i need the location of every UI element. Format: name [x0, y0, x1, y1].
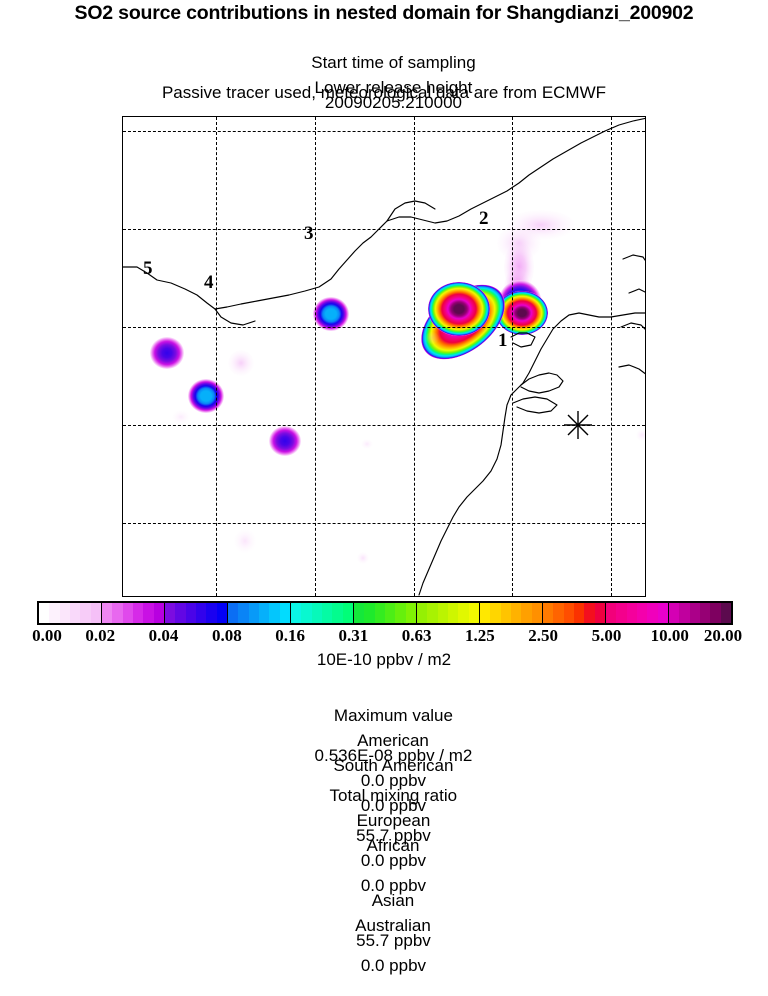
- colorbar-step: [291, 603, 301, 623]
- gridline-horizontal: [123, 523, 645, 524]
- coastline-and-borders: [123, 117, 646, 597]
- colorbar-step: [39, 603, 49, 623]
- gridline-horizontal: [123, 327, 645, 328]
- colorbar-step: [332, 603, 342, 623]
- colorbar-tick: 0.16: [275, 626, 305, 646]
- colorbar-tick: 0.31: [338, 626, 368, 646]
- colorbar-step: [584, 603, 594, 623]
- colorbar-segment: [228, 603, 291, 623]
- colorbar-step: [606, 603, 616, 623]
- region-south-american-value: 0.0 ppbv: [361, 796, 426, 815]
- colorbar-step: [511, 603, 521, 623]
- colorbar-step: [112, 603, 122, 623]
- colorbar-step: [395, 603, 405, 623]
- colorbar-step: [196, 603, 206, 623]
- colorbar-gradient: [37, 601, 733, 625]
- region-australian-value: 0.0 ppbv: [361, 956, 426, 975]
- colorbar-segment: [165, 603, 228, 623]
- colorbar-step: [269, 603, 279, 623]
- gridline-vertical: [512, 117, 513, 596]
- colorbar[interactable]: [37, 601, 733, 625]
- colorbar-step: [574, 603, 584, 623]
- colorbar-segment: [291, 603, 354, 623]
- colorbar-step: [238, 603, 248, 623]
- page-title: SO2 source contributions in nested domai…: [0, 2, 768, 25]
- colorbar-segment: [102, 603, 165, 623]
- colorbar-step: [280, 603, 290, 623]
- colorbar-segment: [417, 603, 480, 623]
- colorbar-step: [80, 603, 90, 623]
- colorbar-step: [154, 603, 164, 623]
- map-label-5: 5: [143, 259, 153, 278]
- colorbar-segment: [480, 603, 543, 623]
- colorbar-step: [616, 603, 626, 623]
- map-label-4: 4: [204, 273, 214, 292]
- map-label-1: 1: [498, 331, 508, 350]
- region-australian-label: Australian: [355, 916, 431, 935]
- colorbar-tick-labels: 0.000.020.040.080.160.310.631.252.505.00…: [0, 626, 768, 646]
- colorbar-step: [102, 603, 112, 623]
- colorbar-tick: 0.63: [402, 626, 432, 646]
- footer-region-row: South American 0.0 ppbv African 0.0 ppbv…: [0, 736, 768, 996]
- colorbar-step: [312, 603, 322, 623]
- colorbar-step: [543, 603, 553, 623]
- colorbar-tick: 1.25: [465, 626, 495, 646]
- region-african-value: 0.0 ppbv: [361, 876, 426, 895]
- colorbar-step: [249, 603, 259, 623]
- colorbar-step: [354, 603, 364, 623]
- colorbar-step: [228, 603, 238, 623]
- colorbar-step: [658, 603, 668, 623]
- colorbar-tick: 0.04: [149, 626, 179, 646]
- colorbar-step: [60, 603, 70, 623]
- colorbar-step: [710, 603, 720, 623]
- colorbar-segment: [606, 603, 669, 623]
- colorbar-step: [364, 603, 374, 623]
- colorbar-step: [490, 603, 500, 623]
- gridline-horizontal: [123, 229, 645, 230]
- colorbar-step: [564, 603, 574, 623]
- colorbar-segment: [669, 603, 731, 623]
- colorbar-step: [521, 603, 531, 623]
- colorbar-step: [553, 603, 563, 623]
- colorbar-step: [143, 603, 153, 623]
- colorbar-step: [679, 603, 689, 623]
- colorbar-segment: [354, 603, 417, 623]
- colorbar-step: [343, 603, 353, 623]
- colorbar-tick: 5.00: [592, 626, 622, 646]
- release-site-star-icon: [578, 425, 579, 426]
- region-south-american-label: South American: [333, 756, 453, 775]
- colorbar-step: [217, 603, 227, 623]
- colorbar-step: [532, 603, 542, 623]
- colorbar-step: [49, 603, 59, 623]
- colorbar-step: [438, 603, 448, 623]
- colorbar-step: [647, 603, 657, 623]
- colorbar-tick: 0.08: [212, 626, 242, 646]
- colorbar-tick: 10.00: [651, 626, 689, 646]
- colorbar-tick: 0.00: [32, 626, 62, 646]
- colorbar-tick: 0.02: [85, 626, 115, 646]
- colorbar-segment: [39, 603, 102, 623]
- colorbar-step: [627, 603, 637, 623]
- map-label-3: 3: [304, 224, 314, 243]
- colorbar-step: [385, 603, 395, 623]
- colorbar-step: [91, 603, 101, 623]
- colorbar-step: [123, 603, 133, 623]
- colorbar-step: [70, 603, 80, 623]
- gridline-horizontal: [123, 131, 645, 132]
- colorbar-step: [637, 603, 647, 623]
- colorbar-step: [469, 603, 479, 623]
- colorbar-step: [595, 603, 605, 623]
- colorbar-step: [458, 603, 468, 623]
- map-label-2: 2: [479, 209, 489, 228]
- gridline-vertical: [216, 117, 217, 596]
- colorbar-segment: [543, 603, 606, 623]
- colorbar-step: [133, 603, 143, 623]
- colorbar-step: [375, 603, 385, 623]
- colorbar-step: [480, 603, 490, 623]
- colorbar-step: [406, 603, 416, 623]
- tracer-note: Passive tracer used, meteorological data…: [0, 83, 768, 103]
- colorbar-step: [175, 603, 185, 623]
- gridline-vertical: [611, 117, 612, 596]
- gridline-vertical: [414, 117, 415, 596]
- colorbar-step: [165, 603, 175, 623]
- colorbar-step: [700, 603, 710, 623]
- colorbar-step: [259, 603, 269, 623]
- colorbar-step: [206, 603, 216, 623]
- colorbar-tick: 20.00: [704, 626, 742, 646]
- colorbar-unit-label: 10E-10 ppbv / m2: [0, 650, 768, 670]
- gridline-vertical: [315, 117, 316, 596]
- colorbar-step: [322, 603, 332, 623]
- colorbar-step: [186, 603, 196, 623]
- colorbar-step: [690, 603, 700, 623]
- colorbar-step: [721, 603, 731, 623]
- colorbar-step: [501, 603, 511, 623]
- map-plot-area[interactable]: 2 3 4 5 1: [122, 116, 646, 597]
- colorbar-step: [427, 603, 437, 623]
- colorbar-step: [448, 603, 458, 623]
- colorbar-step: [301, 603, 311, 623]
- colorbar-step: [417, 603, 427, 623]
- region-african-label: African: [367, 836, 420, 855]
- colorbar-step: [669, 603, 679, 623]
- colorbar-tick: 2.50: [528, 626, 558, 646]
